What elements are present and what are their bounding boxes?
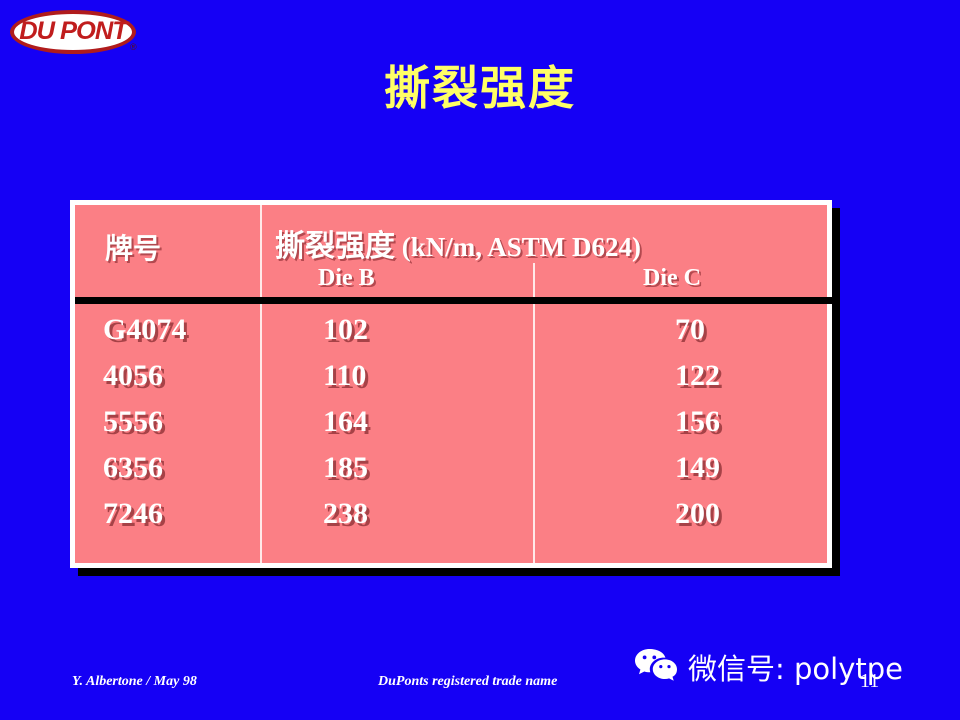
dupont-logo: DU PONT ® bbox=[10, 10, 140, 58]
cell-die-c: 149 bbox=[675, 451, 720, 485]
table-body: G4074 102 70 4056 110 122 5556 164 156 6… bbox=[75, 313, 837, 543]
header-separator-rule bbox=[75, 297, 837, 304]
cell-grade: 4056 bbox=[103, 359, 163, 393]
table-row: 6356 185 149 bbox=[75, 451, 837, 497]
table-row: G4074 102 70 bbox=[75, 313, 837, 359]
cell-die-b: 164 bbox=[323, 405, 368, 439]
wechat-icon bbox=[634, 648, 678, 687]
table-header-measure-units: (kN/m, ASTM D624) bbox=[395, 232, 641, 262]
page-title: 撕裂强度 bbox=[0, 52, 960, 118]
cell-grade: 5556 bbox=[103, 405, 163, 439]
table-row: 5556 164 156 bbox=[75, 405, 837, 451]
table-header-die-c: Die C bbox=[643, 265, 701, 292]
cell-die-c: 200 bbox=[675, 497, 720, 531]
cell-die-b: 185 bbox=[323, 451, 368, 485]
table-header-measure-cn: 撕裂强度 bbox=[275, 229, 395, 264]
cell-grade: 6356 bbox=[103, 451, 163, 485]
table-row: 4056 110 122 bbox=[75, 359, 837, 405]
footer-trademark-note: DuPonts registered trade name bbox=[378, 674, 557, 690]
wechat-watermark: 微信号: polytpe bbox=[634, 646, 903, 688]
registered-trademark-icon: ® bbox=[130, 42, 137, 52]
cell-grade: 7246 bbox=[103, 497, 163, 531]
table-header-die-b: Die B bbox=[318, 265, 375, 292]
cell-die-c: 70 bbox=[675, 313, 705, 347]
cell-die-c: 156 bbox=[675, 405, 720, 439]
footer-author: Y. Albertone / May 98 bbox=[72, 674, 197, 690]
logo-wordmark: DU PONT bbox=[9, 10, 138, 54]
table-header-grade: 牌号 bbox=[105, 227, 161, 267]
cell-die-b: 238 bbox=[323, 497, 368, 531]
cell-die-b: 102 bbox=[323, 313, 368, 347]
table-row: 7246 238 200 bbox=[75, 497, 837, 543]
cell-grade: G4074 bbox=[103, 313, 186, 347]
tear-strength-table: 牌号 撕裂强度 (kN/m, ASTM D624) Die B Die C G4… bbox=[70, 200, 832, 568]
wechat-id-label: 微信号: polytpe bbox=[688, 646, 903, 688]
table-header-measure: 撕裂强度 (kN/m, ASTM D624) bbox=[275, 221, 641, 265]
cell-die-c: 122 bbox=[675, 359, 720, 393]
cell-die-b: 110 bbox=[323, 359, 366, 393]
